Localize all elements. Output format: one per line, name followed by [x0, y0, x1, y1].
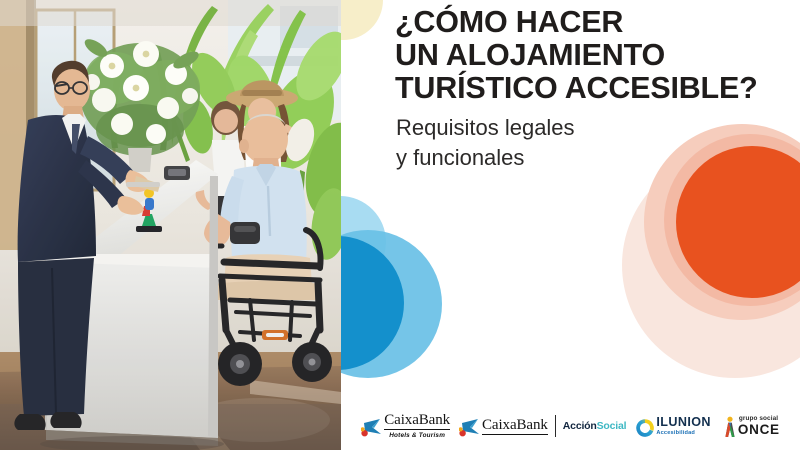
- ilunion-tagline: Accesibilidad: [656, 430, 711, 436]
- blue-circle-dark: [341, 236, 404, 370]
- caixabank-wordmark-hotels: CaixaBank Hotels & Tourism: [384, 413, 450, 439]
- blue-circle-light: [341, 196, 386, 288]
- ilunion-wordmark: ILUNION Accesibilidad: [656, 416, 711, 436]
- blue-circle-medium: [341, 230, 442, 378]
- caixabank-wordmark: CaixaBank: [482, 418, 548, 435]
- logo-caixabank-accion-social[interactable]: CaixaBank AcciónSocial: [459, 415, 626, 437]
- hotel-reception-photo-illustration: [0, 0, 341, 450]
- once-name: ONCE: [738, 423, 780, 437]
- sponsor-logo-bar: CaixaBank Hotels & Tourism CaixaBank: [341, 402, 800, 450]
- orange-ring-outer: [622, 152, 800, 378]
- title-line-2: UN ALOJAMIENTO: [395, 39, 785, 72]
- accion-social-wordmark: AcciónSocial: [563, 420, 627, 432]
- banner-root: ¿CÓMO HACER UN ALOJAMIENTO TURÍSTICO ACC…: [0, 0, 800, 450]
- logo-divider: [555, 415, 556, 437]
- page-subtitle: Requisitos legales y funcionales: [396, 113, 736, 173]
- title-line-3: TURÍSTICO ACCESIBLE?: [395, 72, 785, 105]
- logo-caixabank-hotels-tourism[interactable]: CaixaBank Hotels & Tourism: [361, 413, 450, 439]
- logo-ilunion-accesibilidad[interactable]: ILUNION Accesibilidad: [635, 416, 711, 436]
- once-tagline: grupo social: [739, 415, 780, 422]
- hero-photo: [0, 0, 341, 450]
- accion-word: Acción: [563, 420, 597, 432]
- caixabank-tagline: Hotels & Tourism: [389, 432, 445, 439]
- subtitle-line-1: Requisitos legales: [396, 113, 736, 143]
- social-word: Social: [597, 420, 627, 432]
- subtitle-line-2: y funcionales: [396, 143, 736, 173]
- title-line-1: ¿CÓMO HACER: [395, 6, 785, 39]
- cream-circle-decoration: [341, 0, 383, 40]
- caixabank-star-icon: [361, 417, 381, 435]
- caixabank-name: CaixaBank: [482, 418, 548, 435]
- ilunion-name: ILUNION: [656, 416, 711, 429]
- once-figure-icon: [723, 416, 736, 436]
- caixabank-star-icon: [459, 417, 479, 435]
- page-title: ¿CÓMO HACER UN ALOJAMIENTO TURÍSTICO ACC…: [395, 6, 785, 105]
- once-wordmark: grupo social ONCE: [738, 415, 780, 437]
- ilunion-circle-icon: [635, 418, 652, 435]
- caixabank-name: CaixaBank: [384, 413, 450, 430]
- blue-circles-decoration: [341, 196, 450, 396]
- logo-grupo-social-once[interactable]: grupo social ONCE: [723, 415, 780, 437]
- content-panel: ¿CÓMO HACER UN ALOJAMIENTO TURÍSTICO ACC…: [341, 0, 800, 450]
